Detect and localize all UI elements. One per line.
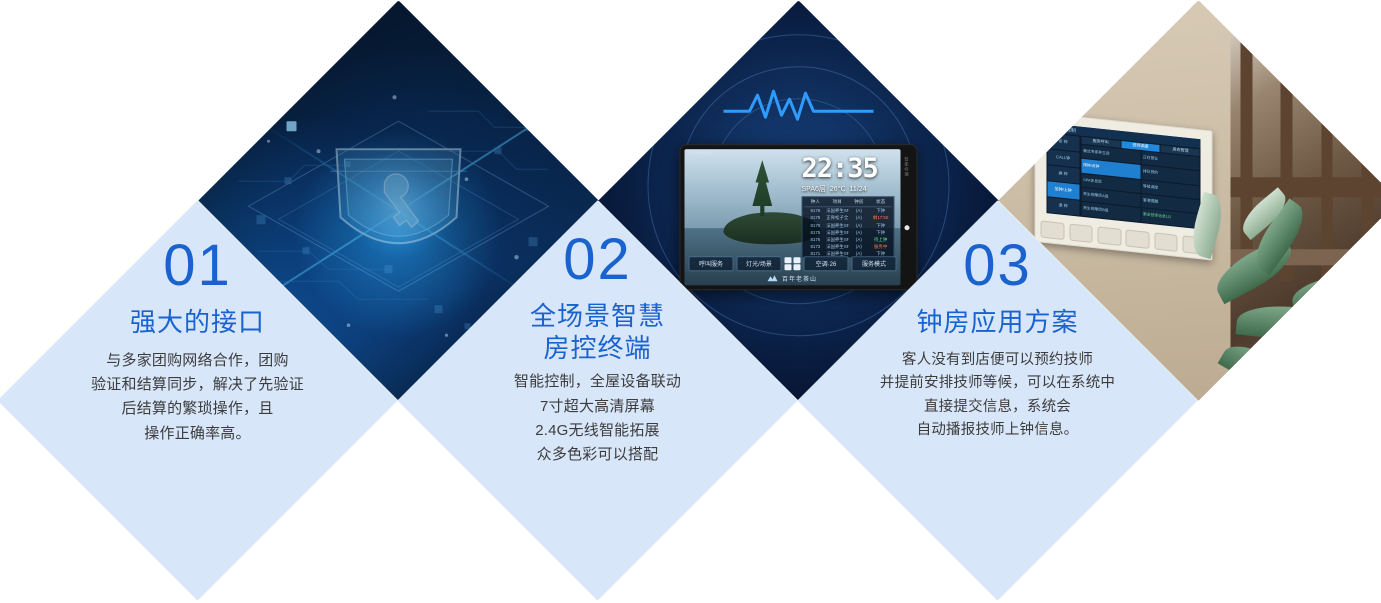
desc-line: 与多家团购网络合作，团购 bbox=[91, 348, 304, 372]
card-description: 与多家团购网络合作，团购 验证和结算同步，解决了先验证 后结算的繁琐操作，且 操… bbox=[91, 348, 304, 445]
clock-time: 22:35 bbox=[801, 154, 894, 181]
desc-line: 2.4G无线智能拓展 bbox=[513, 418, 680, 442]
card-number: 03 bbox=[963, 236, 1032, 294]
technician-status-table: 钟人 项目 钟房 状态 8178法国养生SPA(A)下钟 8179正骨松子全身推… bbox=[801, 195, 894, 257]
hw-key[interactable] bbox=[1069, 222, 1092, 241]
desc-line: 后结算的繁琐操作，且 bbox=[91, 396, 304, 420]
panel-title: 客房控制 bbox=[1056, 124, 1076, 133]
home-icon bbox=[1049, 124, 1054, 130]
desc-line: 智能控制，全屋设备联动 bbox=[513, 369, 680, 393]
panel-column-left: 泰式专家养生房 排钟/点钟 SPA休息房 养生按摩房A组 养生按摩房B组 bbox=[1081, 143, 1140, 220]
title-line: 全场景智慧 bbox=[529, 300, 664, 332]
card-title: 全场景智慧 房控终端 bbox=[529, 300, 664, 363]
clock-location: SPA6层 bbox=[801, 183, 825, 193]
tablet-brand-top: CSUMO bbox=[688, 149, 713, 155]
wall-control-panel: 客房控制 点 钟 CALL钟 换 钟 加钟/上钟 退 钟 bbox=[1034, 111, 1212, 260]
panel-side-menu: 点 钟 CALL钟 换 钟 加钟/上钟 退 钟 bbox=[1046, 131, 1080, 215]
desc-line: 众多色彩可以搭配 bbox=[513, 442, 680, 466]
logo-mark-icon bbox=[767, 274, 777, 281]
card-number: 02 bbox=[563, 230, 632, 288]
tab-service-mode[interactable]: 服务模式 bbox=[851, 255, 896, 270]
tablet-brand-bottom: 百年老茶山 bbox=[684, 271, 900, 283]
menu-item[interactable]: 点 钟 bbox=[1047, 132, 1079, 150]
clock-widget: 22:35 SPA6层 26℃ 11/24 bbox=[801, 154, 894, 193]
desc-line: 直接提交信息，系统会 bbox=[879, 395, 1114, 418]
hw-key[interactable] bbox=[1097, 225, 1120, 244]
card-title: 钟房应用方案 bbox=[916, 306, 1078, 338]
desc-line: 7寸超大高清屏幕 bbox=[513, 394, 680, 418]
title-line: 房控终端 bbox=[529, 332, 664, 364]
col-header: 状态 bbox=[869, 198, 891, 204]
tablet-side-bar: 智能终端 bbox=[900, 148, 912, 284]
tab-lighting-scene[interactable]: 灯光/场景 bbox=[736, 255, 781, 270]
table-row: 8178法国养生SPA(A)下钟 bbox=[804, 206, 891, 213]
col-header: 钟人 bbox=[804, 198, 826, 204]
col-header: 钟房 bbox=[848, 198, 870, 204]
card-number: 01 bbox=[163, 236, 232, 294]
card-description: 客人没有到店便可以预约技师 并提前安排技师等候，可以在系统中 直接提交信息，系统… bbox=[879, 348, 1114, 442]
desc-line: 验证和结算同步，解决了先验证 bbox=[91, 372, 304, 396]
desc-line: 客人没有到店便可以预约技师 bbox=[879, 348, 1114, 371]
clock-date: 11/24 bbox=[849, 185, 866, 192]
table-header: 钟人 项目 钟房 状态 bbox=[804, 198, 891, 206]
app-grid-icon[interactable] bbox=[784, 256, 800, 269]
sensor-icon bbox=[904, 224, 909, 229]
card-title: 强大的接口 bbox=[129, 306, 264, 338]
heartbeat-pulse-icon bbox=[723, 84, 873, 124]
hw-key[interactable] bbox=[1125, 228, 1148, 247]
desc-line: 并提前安排技师等候，可以在系统中 bbox=[879, 371, 1114, 394]
hw-key[interactable] bbox=[1040, 219, 1063, 238]
desc-line: 操作正确率高。 bbox=[91, 421, 304, 445]
potted-plant-decoration bbox=[1206, 208, 1381, 400]
col-header: 项目 bbox=[826, 198, 848, 204]
hw-key[interactable] bbox=[1154, 231, 1177, 250]
tablet-device: CSUMO 22:35 SPA6层 26℃ 11/24 钟人 bbox=[679, 143, 917, 289]
desc-line: 自动播报技师上钟信息。 bbox=[879, 418, 1114, 441]
panel-screen: 客房控制 点 钟 CALL钟 换 钟 加钟/上钟 退 钟 bbox=[1046, 122, 1201, 228]
clock-temp: 26℃ bbox=[829, 184, 845, 192]
tablet-screen: CSUMO 22:35 SPA6层 26℃ 11/24 钟人 bbox=[684, 148, 900, 284]
tab-call-service[interactable]: 呼叫服务 bbox=[688, 255, 733, 270]
card-description: 智能控制，全屋设备联动 7寸超大高清屏幕 2.4G无线智能拓展 众多色彩可以搭配 bbox=[513, 369, 680, 466]
tab-air-conditioning[interactable]: 空调·26 bbox=[803, 255, 848, 270]
tablet-toolbar: 呼叫服务 灯光/场景 空调·26 服务模式 bbox=[688, 255, 896, 270]
panel-column-right: 正在营业 排队预约 等候调度 客满提醒 更多技师信息1/2 bbox=[1141, 150, 1200, 227]
tablet-side-text: 智能终端 bbox=[903, 156, 909, 176]
promo-banner: CSUMO 22:35 SPA6层 26℃ 11/24 钟人 bbox=[0, 0, 1381, 603]
